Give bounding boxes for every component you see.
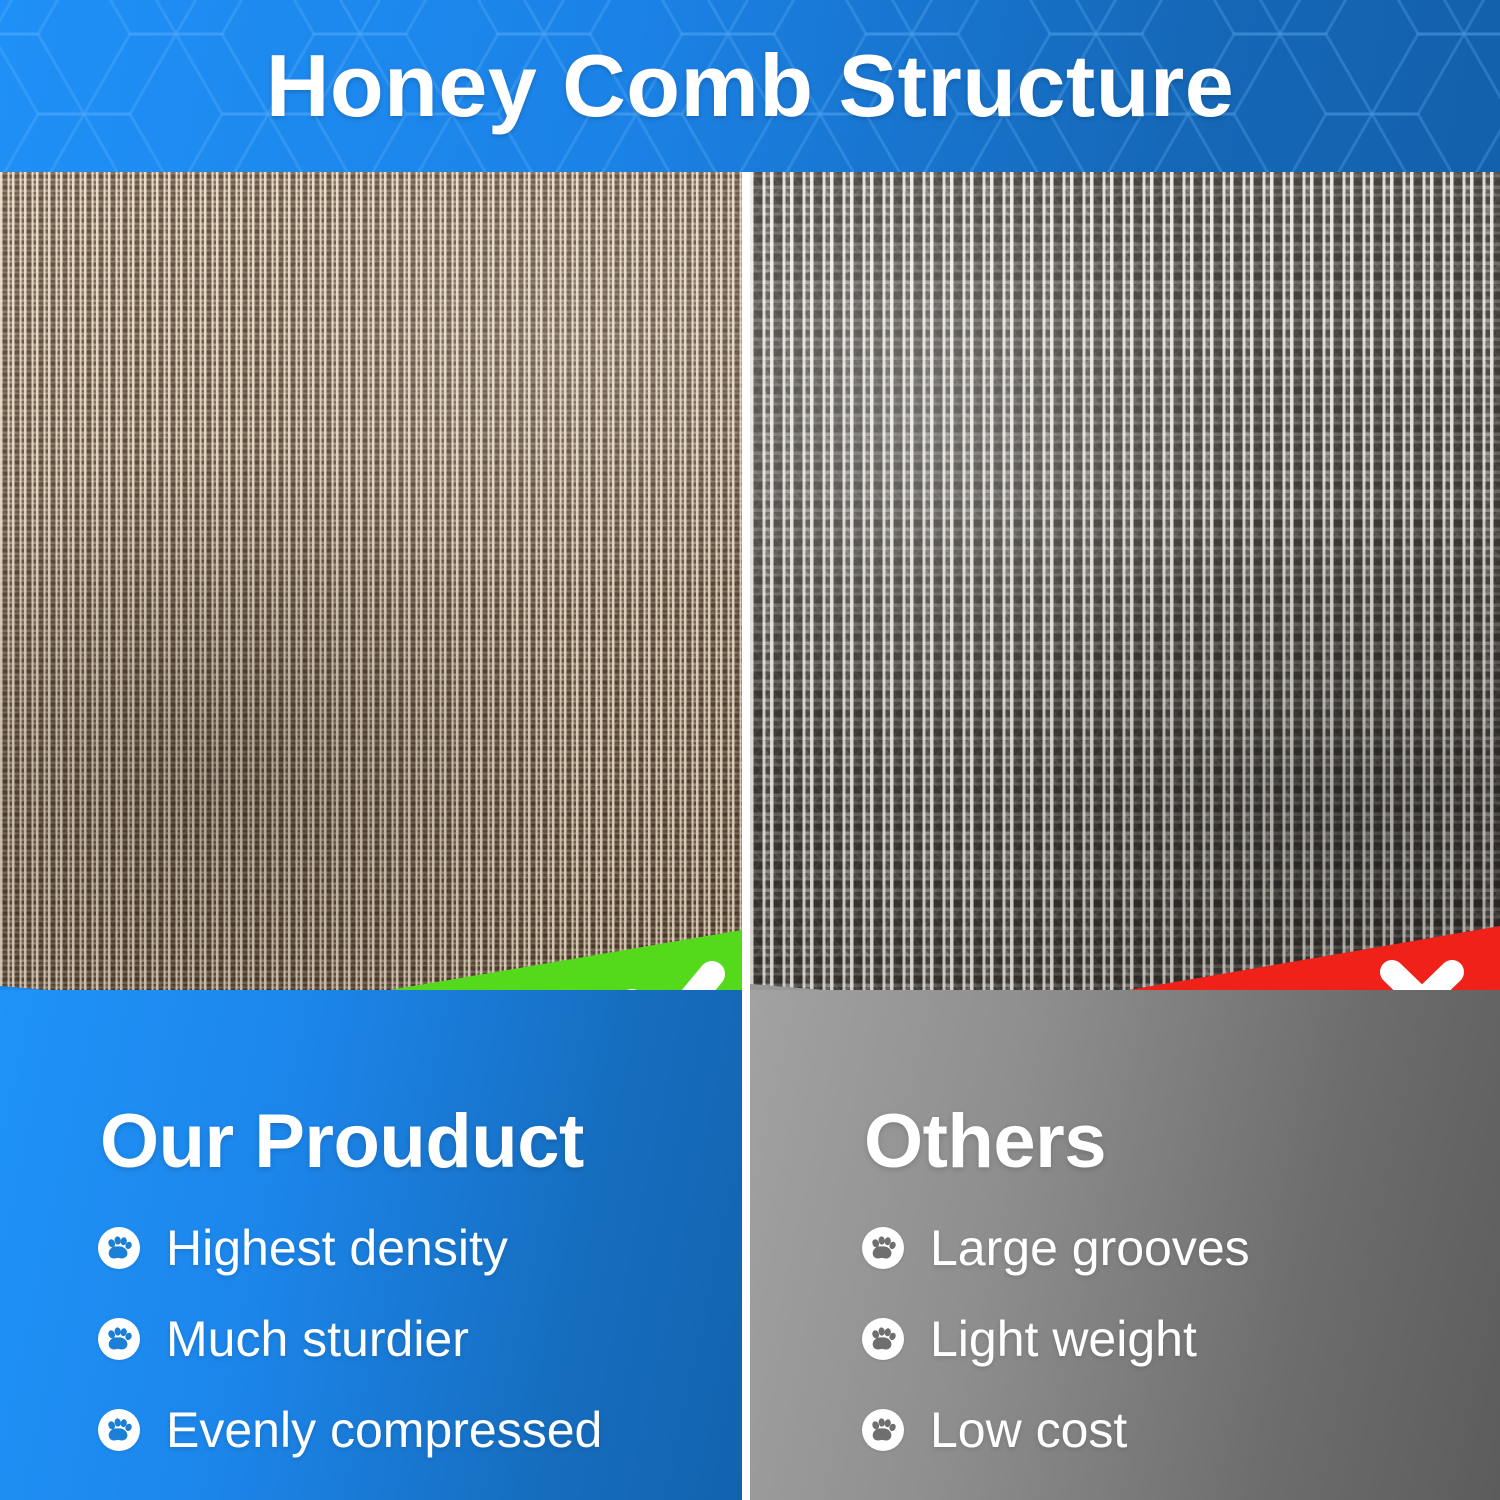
list-item: Low cost — [862, 1394, 1250, 1466]
feature-label: Evenly compressed — [166, 1401, 602, 1459]
product-photo-right — [750, 172, 1500, 1006]
infographic-root: Honey Comb Structure Ou — [0, 0, 1500, 1500]
paw-icon — [98, 1409, 140, 1451]
list-item: Highest density — [98, 1212, 602, 1284]
page-title: Honey Comb Structure — [0, 0, 1500, 172]
paw-icon — [98, 1318, 140, 1360]
list-item: Evenly compressed — [98, 1394, 602, 1466]
product-photo-left — [0, 172, 742, 1006]
list-item: Light weight — [862, 1303, 1250, 1375]
right-texture-shading — [750, 172, 1500, 1006]
others-heading: Others — [864, 1098, 1106, 1185]
list-item: Large grooves — [862, 1212, 1250, 1284]
paw-icon — [862, 1318, 904, 1360]
paw-icon — [862, 1409, 904, 1451]
feature-label: Much sturdier — [166, 1310, 469, 1368]
header-banner: Honey Comb Structure — [0, 0, 1500, 172]
left-texture-shading — [0, 172, 742, 1006]
photo-divider — [742, 172, 750, 1006]
feature-label: Low cost — [930, 1401, 1127, 1459]
paw-icon — [98, 1227, 140, 1269]
our-product-panel: Our Prouduct Highest density — [0, 990, 742, 1500]
paw-icon — [862, 1227, 904, 1269]
feature-label: Highest density — [166, 1219, 508, 1277]
feature-label: Large grooves — [930, 1219, 1250, 1277]
feature-label: Light weight — [930, 1310, 1197, 1368]
our-product-feature-list: Highest density Much sturdier — [98, 1212, 602, 1485]
list-item: Much sturdier — [98, 1303, 602, 1375]
others-feature-list: Large grooves Light weight — [862, 1212, 1250, 1485]
others-panel: Others Large grooves — [750, 990, 1500, 1500]
panel-divider — [742, 990, 750, 1500]
our-product-heading: Our Prouduct — [100, 1098, 584, 1185]
